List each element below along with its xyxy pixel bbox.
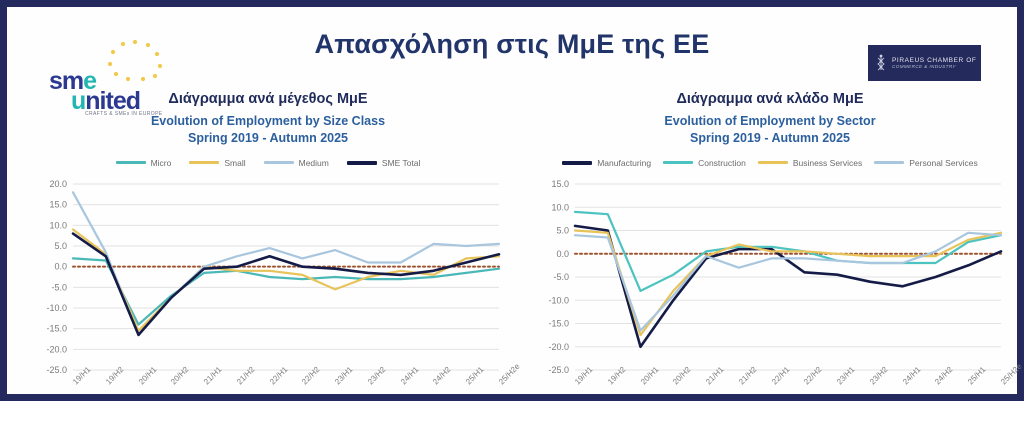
legend-label: Micro [151, 158, 172, 168]
legend-item-manufacturing[interactable]: Manufacturing [562, 158, 651, 168]
legend-swatch-icon [874, 161, 904, 164]
chart-header-size-class: Διάγραμμα ανά μέγεθος ΜμΕ Evolution of E… [29, 91, 507, 147]
series-line-micro [73, 258, 499, 324]
series-line-business-services [575, 230, 1001, 335]
legend-item-business-services[interactable]: Business Services [758, 158, 862, 168]
legend-item-micro[interactable]: Micro [116, 158, 172, 168]
chart-legend-sector: ManufacturingConstructionBusiness Servic… [531, 158, 1009, 168]
legend-swatch-icon [663, 161, 693, 164]
y-axis-tick-label: 15.0 [551, 179, 569, 189]
series-line-medium [73, 192, 499, 335]
x-axis-size-class: 19/H119/H220/H120/H221/H121/H222/H122/H2… [29, 378, 507, 433]
y-axis-tick-label: 5.0 [556, 225, 569, 235]
chart-legend-size-class: MicroSmallMediumSME Total [29, 158, 507, 168]
y-axis-tick-label: 10.0 [551, 202, 569, 212]
y-axis-tick-label: -10.0 [548, 295, 569, 305]
legend-item-small[interactable]: Small [189, 158, 245, 168]
slide-inner: Απασχόληση στις ΜμΕ της ΕΕ sme united CR… [7, 7, 1017, 394]
piraeus-logo-text: PIRAEUS CHAMBER OF COMMERCE & INDUSTRY [892, 57, 976, 70]
chart-title-english: Evolution of Employment by Sector Spring… [531, 113, 1009, 147]
legend-label: Business Services [793, 158, 862, 168]
legend-item-medium[interactable]: Medium [264, 158, 329, 168]
y-axis-tick-label: -20.0 [548, 342, 569, 352]
series-line-personal-services [575, 233, 1001, 331]
plot-area-sector: 15.010.05.00.0-5.0-10.0-15.0-20.0-25.0 [531, 178, 1009, 378]
y-axis-tick-label: -25.0 [46, 365, 67, 375]
line-chart-size-class: 20.015.010.05.00.0-5.0-10.0-15.0-20.0-25… [29, 178, 507, 378]
plot-area-size-class: 20.015.010.05.00.0-5.0-10.0-15.0-20.0-25… [29, 178, 507, 378]
y-axis-tick-label: 0.0 [556, 249, 569, 259]
slide: Απασχόληση στις ΜμΕ της ΕΕ sme united CR… [0, 0, 1024, 401]
y-axis-tick-label: 20.0 [49, 179, 67, 189]
legend-label: Construction [698, 158, 746, 168]
legend-swatch-icon [116, 161, 146, 164]
eu-stars-icon [95, 39, 175, 85]
legend-label: Medium [299, 158, 329, 168]
legend-swatch-icon [347, 161, 377, 165]
chart-panel-size-class: Διάγραμμα ανά μέγεθος ΜμΕ Evolution of E… [29, 91, 507, 396]
legend-label: Personal Services [909, 158, 978, 168]
y-axis-tick-label: 10.0 [49, 220, 67, 230]
legend-swatch-icon [264, 161, 294, 164]
y-axis-tick-label: -5.0 [553, 272, 569, 282]
y-axis-tick-label: -5.0 [51, 282, 67, 292]
legend-label: Small [224, 158, 245, 168]
piraeus-logo-line1: PIRAEUS CHAMBER OF [892, 57, 976, 64]
piraeus-chamber-logo: PIRAEUS CHAMBER OF COMMERCE & INDUSTRY [868, 45, 981, 81]
chart-subtitle-line1: Evolution of Employment by Sector [531, 113, 1009, 130]
y-axis-tick-label: 15.0 [49, 199, 67, 209]
legend-swatch-icon [562, 161, 592, 165]
legend-label: Manufacturing [597, 158, 651, 168]
y-axis-tick-label: -20.0 [46, 344, 67, 354]
legend-label: SME Total [382, 158, 421, 168]
legend-item-sme-total[interactable]: SME Total [347, 158, 421, 168]
chart-header-sector: Διάγραμμα ανά κλάδο ΜμΕ Evolution of Emp… [531, 91, 1009, 147]
y-axis-tick-label: 0.0 [54, 261, 67, 271]
legend-swatch-icon [758, 161, 788, 164]
piraeus-logo-line2: COMMERCE & INDUSTRY [892, 64, 976, 69]
legend-item-personal-services[interactable]: Personal Services [874, 158, 978, 168]
chart-subtitle-line1: Evolution of Employment by Size Class [29, 113, 507, 130]
chart-title-greek: Διάγραμμα ανά κλάδο ΜμΕ [531, 91, 1009, 107]
line-chart-sector: 15.010.05.00.0-5.0-10.0-15.0-20.0-25.0 [531, 178, 1009, 378]
y-axis-tick-label: -15.0 [46, 323, 67, 333]
y-axis-tick-label: 5.0 [54, 241, 67, 251]
y-axis-tick-label: -10.0 [46, 303, 67, 313]
chart-title-english: Evolution of Employment by Size Class Sp… [29, 113, 507, 147]
chart-title-greek: Διάγραμμα ανά μέγεθος ΜμΕ [29, 91, 507, 107]
chart-panel-sector: Διάγραμμα ανά κλάδο ΜμΕ Evolution of Emp… [531, 91, 1009, 396]
legend-item-construction[interactable]: Construction [663, 158, 746, 168]
y-axis-tick-label: -25.0 [548, 365, 569, 375]
legend-swatch-icon [189, 161, 219, 164]
chart-subtitle-line2: Spring 2019 - Autumn 2025 [531, 130, 1009, 147]
x-axis-sector: 19/H119/H220/H120/H221/H121/H222/H122/H2… [531, 378, 1009, 433]
chart-subtitle-line2: Spring 2019 - Autumn 2025 [29, 130, 507, 147]
caduceus-icon [874, 54, 888, 72]
y-axis-tick-label: -15.0 [548, 318, 569, 328]
